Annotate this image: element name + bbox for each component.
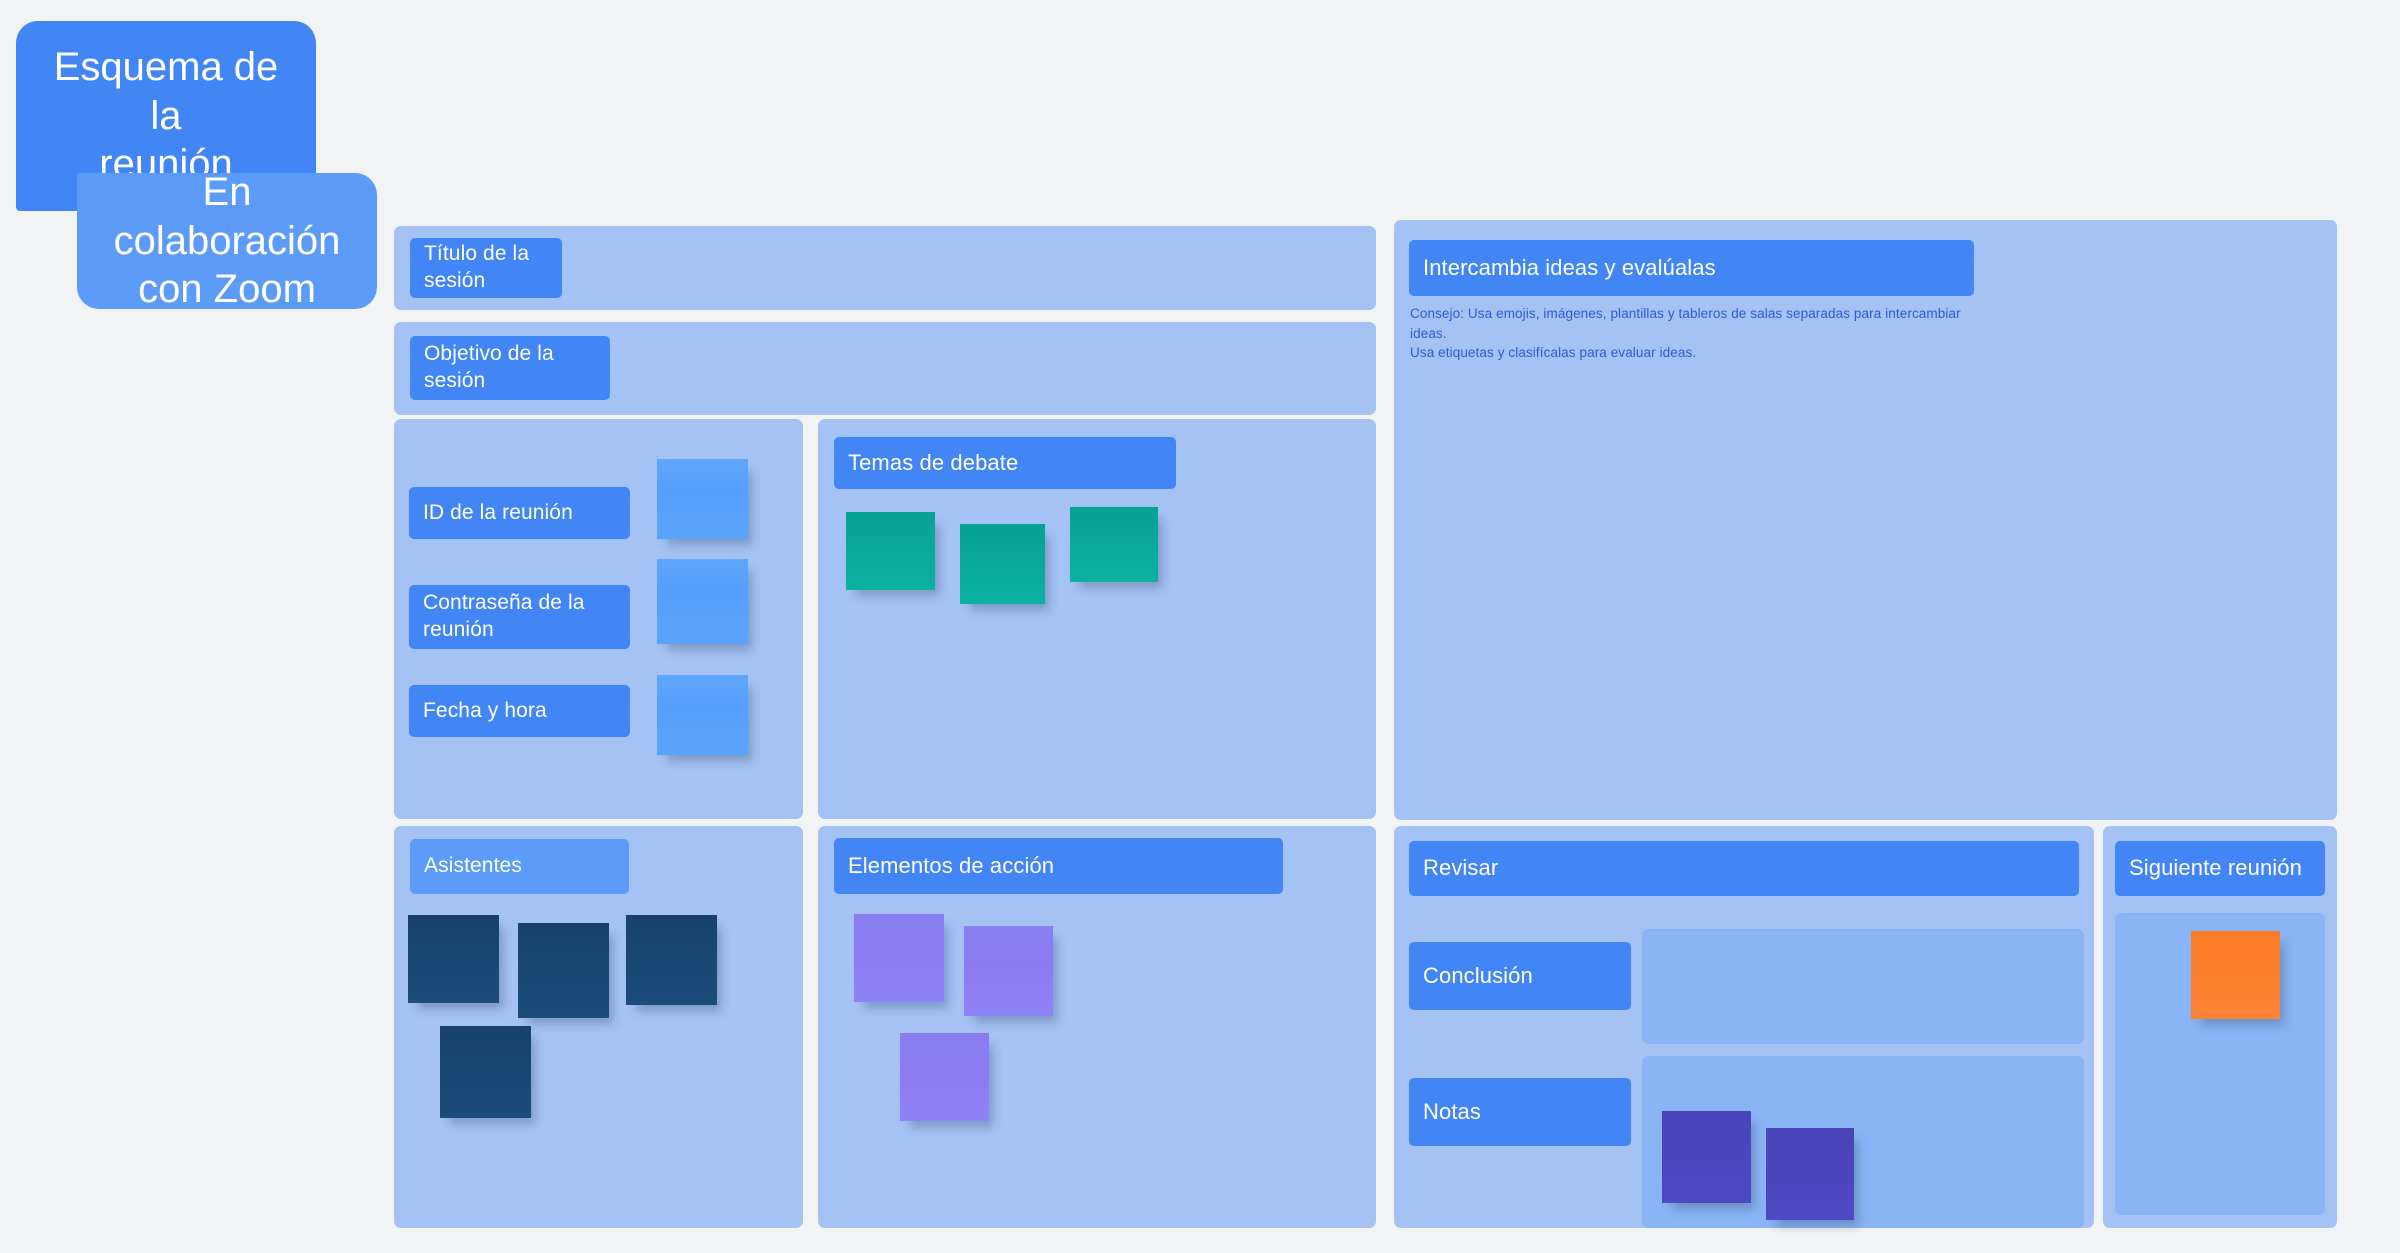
sticky-note[interactable] [518, 923, 609, 1018]
session-title-label[interactable]: Título de la sesión [410, 238, 562, 298]
review-header[interactable]: Revisar [1409, 841, 2079, 896]
next-meeting-header[interactable]: Siguiente reunión [2115, 841, 2325, 896]
sticky-note[interactable] [900, 1033, 989, 1121]
topics-frame[interactable]: Temas de debate [818, 419, 1376, 819]
conclusion-dropzone[interactable] [1642, 929, 2084, 1044]
sticky-note[interactable] [854, 914, 944, 1002]
brainstorm-tip-text: Consejo: Usa emojis, imágenes, plantilla… [1410, 304, 1970, 363]
notes-label[interactable]: Notas [1409, 1078, 1631, 1146]
brainstorm-header[interactable]: Intercambia ideas y evalúalas [1409, 240, 1974, 296]
next-meeting-dropzone[interactable] [2115, 913, 2325, 1215]
next-meeting-frame[interactable]: Siguiente reunión [2103, 826, 2337, 1228]
attendees-header[interactable]: Asistentes [410, 839, 629, 894]
sticky-note[interactable] [1766, 1128, 1854, 1220]
sticky-note[interactable] [657, 675, 748, 755]
meeting-id-label[interactable]: ID de la reunión [409, 487, 630, 539]
whiteboard-canvas[interactable]: Esquema de la reunión En colaboración co… [0, 0, 2400, 1253]
sticky-note[interactable] [2191, 931, 2280, 1019]
board-subtitle-card[interactable]: En colaboración con Zoom [77, 173, 377, 309]
sticky-note[interactable] [964, 926, 1053, 1016]
session-title-frame[interactable]: Título de la sesión [394, 226, 1376, 310]
board-subtitle-text: En colaboración con Zoom [95, 168, 359, 314]
conclusion-label[interactable]: Conclusión [1409, 942, 1631, 1010]
action-items-frame[interactable]: Elementos de acción [818, 826, 1376, 1228]
action-items-header[interactable]: Elementos de acción [834, 838, 1283, 894]
sticky-note[interactable] [626, 915, 717, 1005]
meeting-datetime-label[interactable]: Fecha y hora [409, 685, 630, 737]
sticky-note[interactable] [960, 524, 1045, 604]
sticky-note[interactable] [440, 1026, 531, 1118]
sticky-note[interactable] [846, 512, 935, 590]
brainstorm-frame[interactable]: Intercambia ideas y evalúalas Consejo: U… [1394, 220, 2337, 820]
meeting-details-frame[interactable]: ID de la reunión Contraseña de la reunió… [394, 419, 803, 819]
sticky-note[interactable] [657, 459, 748, 539]
review-frame[interactable]: Revisar Conclusión Notas [1394, 826, 2094, 1228]
meeting-password-label[interactable]: Contraseña de la reunión [409, 585, 630, 649]
notes-dropzone[interactable] [1642, 1056, 2084, 1228]
sticky-note[interactable] [1662, 1111, 1751, 1203]
sticky-note[interactable] [657, 559, 748, 644]
sticky-note[interactable] [1070, 507, 1158, 582]
topics-header[interactable]: Temas de debate [834, 437, 1176, 489]
session-objective-label[interactable]: Objetivo de la sesión [410, 336, 610, 400]
session-objective-frame[interactable]: Objetivo de la sesión [394, 322, 1376, 415]
sticky-note[interactable] [408, 915, 499, 1003]
attendees-frame[interactable]: Asistentes [394, 826, 803, 1228]
